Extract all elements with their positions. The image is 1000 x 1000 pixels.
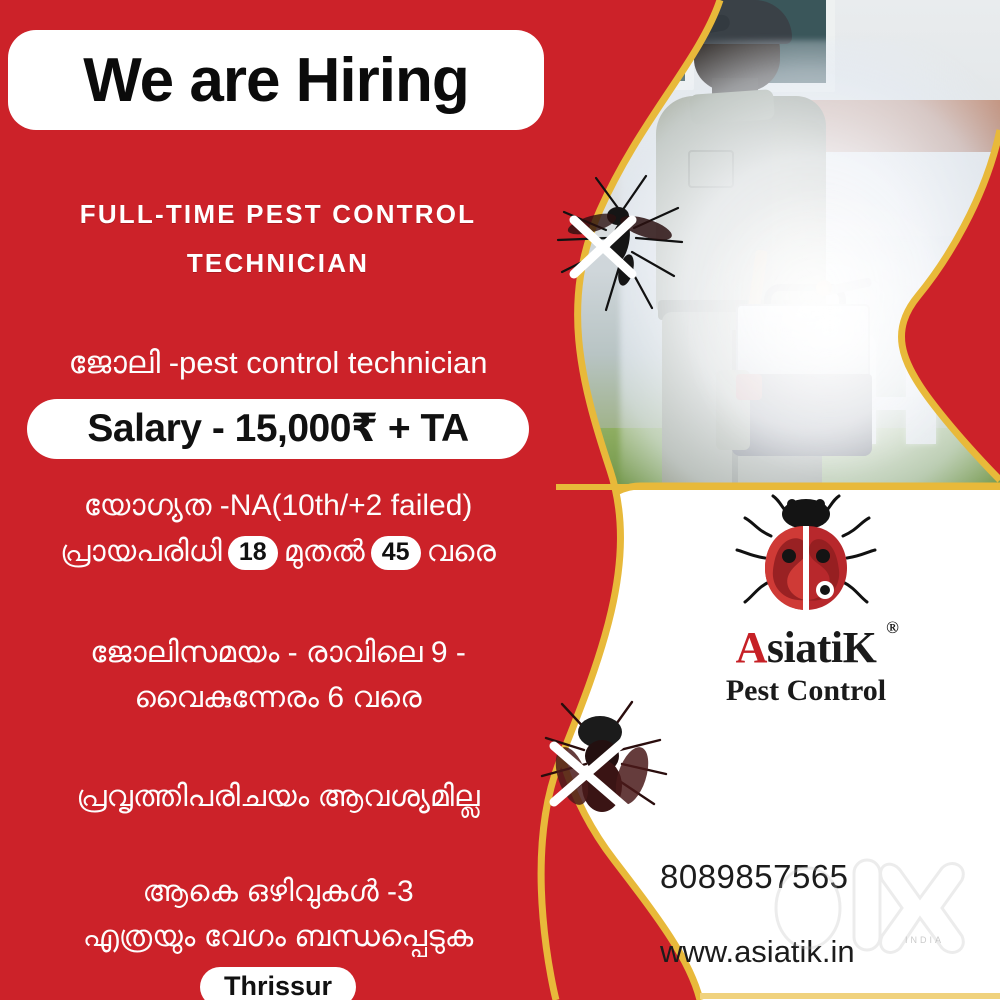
- job-title: FULL-TIME PEST CONTROL TECHNICIAN: [0, 190, 556, 289]
- working-hours: ജോലിസമയം - രാവിലെ 9 - വൈകുന്നേരം 6 വരെ: [0, 630, 556, 720]
- job-details-column: FULL-TIME PEST CONTROL TECHNICIAN ജോലി -…: [0, 190, 556, 1000]
- contact-cta-line: എത്രയും വേഗം ബന്ധപ്പെടുക: [0, 914, 556, 959]
- age-middle-label: മുതൽ: [284, 531, 365, 574]
- job-title-line-1: FULL-TIME PEST CONTROL: [40, 190, 516, 239]
- contact-block: 8089857565 www.asiatik.in: [660, 858, 1000, 970]
- page-title: We are Hiring: [83, 45, 469, 116]
- brand-tagline: Pest Control: [672, 674, 940, 708]
- website-url[interactable]: www.asiatik.in: [660, 934, 1000, 970]
- working-hours-line-2: വൈകുന്നേരം 6 വരെ: [0, 675, 556, 720]
- registered-mark: ®: [886, 618, 898, 638]
- working-hours-line-1: ജോലിസമയം - രാവിലെ 9 -: [0, 630, 556, 675]
- age-max-badge: 45: [371, 536, 421, 570]
- salary-banner: Salary - 15,000₹ + TA: [27, 399, 529, 459]
- fly-crossed-out-icon: [528, 698, 680, 828]
- brand-name-rest: siatiK: [767, 623, 876, 672]
- ladybug-logo-icon: [731, 492, 881, 620]
- phone-number[interactable]: 8089857565: [660, 858, 1000, 896]
- age-prefix-label: പ്രായപരിധി: [60, 531, 222, 574]
- qualification-line: യോഗ്യത -NA(10th/+2 failed): [0, 485, 556, 528]
- age-suffix-label: വരെ: [427, 531, 496, 574]
- brand-name: AsiatiK®: [736, 622, 877, 673]
- experience-line: പ്രവൃത്തിപരിചയം ആവശ്യമില്ല: [0, 776, 556, 819]
- vacancy-block: ആകെ ഒഴിവുകൾ -3 എത്രയും വേഗം ബന്ധപ്പെടുക …: [0, 869, 556, 1000]
- salary-label: Salary - 15,000₹ + TA: [87, 406, 468, 451]
- brand-logo: AsiatiK® Pest Control: [672, 492, 940, 704]
- role-line: ജോലി -pest control technician: [0, 341, 556, 385]
- hiring-poster: We are Hiring FULL-TIME PEST CONTROL TEC…: [0, 0, 1000, 1000]
- job-title-line-2: TECHNICIAN: [40, 239, 516, 288]
- headline-banner: We are Hiring: [8, 30, 544, 130]
- vacancy-count-line: ആകെ ഒഴിവുകൾ -3: [0, 869, 556, 914]
- brand-name-initial: A: [736, 623, 767, 672]
- age-range-line: പ്രായപരിധി 18 മുതൽ 45 വരെ: [0, 531, 556, 574]
- age-min-badge: 18: [228, 536, 278, 570]
- city-badge: Thrissur: [200, 967, 356, 1000]
- olx-watermark-label: INDIA: [905, 935, 944, 945]
- mosquito-crossed-out-icon: [548, 168, 688, 314]
